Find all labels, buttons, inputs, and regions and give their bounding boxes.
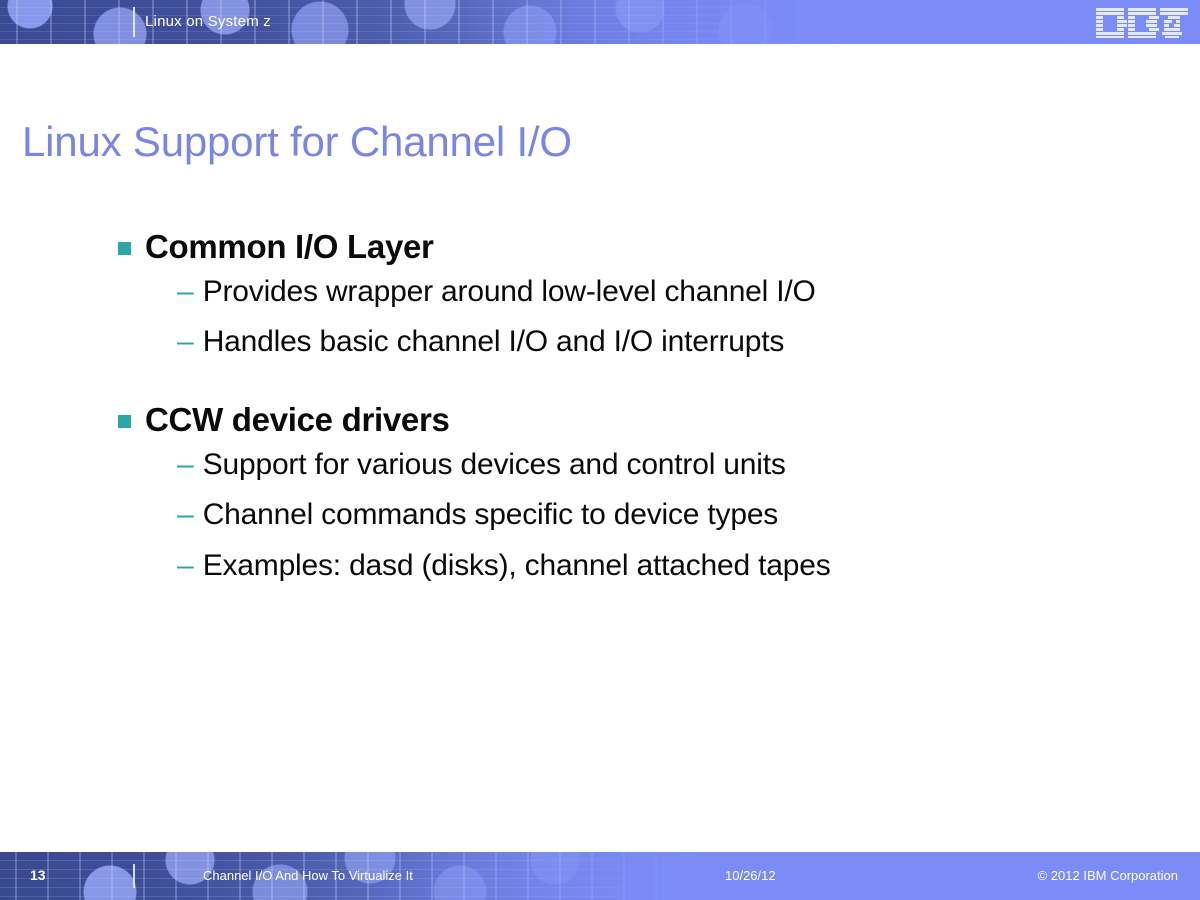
bullet-level2-label: Channel commands specific to device type… (203, 498, 778, 533)
bullet-level1-item: CCW device drivers (118, 401, 1200, 440)
bullet-level1-label: CCW device drivers (145, 401, 450, 440)
square-bullet-icon (118, 415, 131, 428)
slide-header-banner: Linux on System z (0, 0, 1200, 44)
presentation-slide: Linux on System z (0, 0, 1200, 900)
group-spacer (0, 376, 1200, 401)
bullet-level2-item: – Examples: dasd (disks), channel attach… (177, 549, 1200, 584)
header-background-pattern (0, 0, 840, 44)
dash-bullet-icon: – (177, 275, 194, 310)
header-divider (133, 7, 135, 37)
footer-divider (133, 864, 135, 888)
header-eyebrow-title: Linux on System z (145, 13, 271, 30)
bullet-level2-item: – Support for various devices and contro… (177, 448, 1200, 483)
bullet-level1-item: Common I/O Layer (118, 228, 1200, 267)
bullet-level2-label: Support for various devices and control … (203, 448, 786, 483)
bullet-level2-label: Provides wrapper around low-level channe… (203, 275, 816, 310)
bullet-level2-label: Handles basic channel I/O and I/O interr… (203, 325, 785, 360)
slide-title: Linux Support for Channel I/O (22, 118, 572, 166)
footer-copyright: © 2012 IBM Corporation (1038, 868, 1178, 883)
bullet-level2-item: – Channel commands specific to device ty… (177, 498, 1200, 533)
square-bullet-icon (118, 242, 131, 255)
footer-deck-title: Channel I/O And How To Virtualize It (203, 868, 413, 883)
dash-bullet-icon: – (177, 549, 194, 584)
bullet-level2-item: – Handles basic channel I/O and I/O inte… (177, 325, 1200, 360)
ibm-logo-icon (1096, 8, 1192, 38)
slide-footer-banner: 13 Channel I/O And How To Virtualize It … (0, 852, 1200, 900)
slide-body-content: Common I/O Layer – Provides wrapper arou… (0, 228, 1200, 599)
dash-bullet-icon: – (177, 448, 194, 483)
footer-date: 10/26/12 (725, 868, 776, 883)
bullet-level1-label: Common I/O Layer (145, 228, 434, 267)
dash-bullet-icon: – (177, 498, 194, 533)
bullet-level2-item: – Provides wrapper around low-level chan… (177, 275, 1200, 310)
slide-page-number: 13 (30, 867, 46, 883)
bullet-level2-label: Examples: dasd (disks), channel attached… (203, 549, 831, 584)
dash-bullet-icon: – (177, 325, 194, 360)
